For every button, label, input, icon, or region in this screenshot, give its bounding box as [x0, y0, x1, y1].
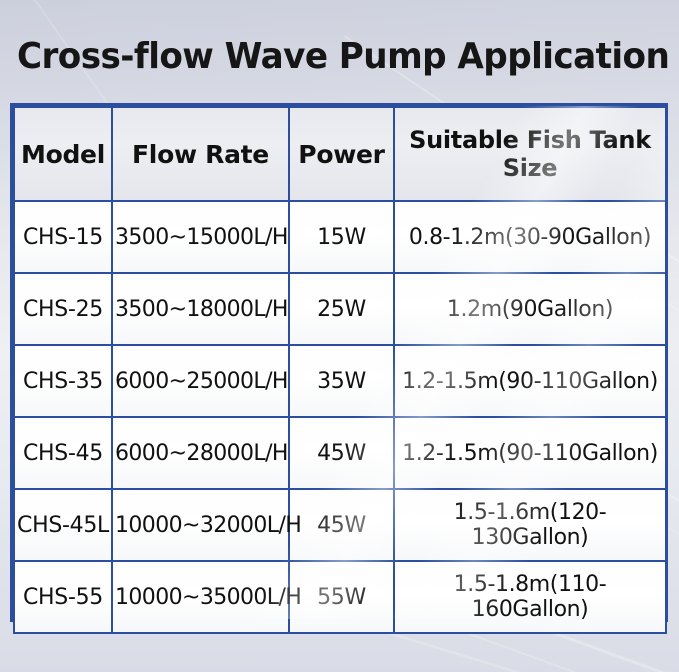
cell-model: CHS-55 [14, 561, 112, 633]
cell-tank-size: 1.2-1.5m(90-110Gallon) [394, 417, 666, 489]
cell-power: 55W [289, 561, 394, 633]
cell-power: 15W [289, 201, 394, 273]
cell-tank-size: 1.2m(90Gallon) [394, 273, 666, 345]
page-title: Cross-flow Wave Pump Application [17, 36, 662, 77]
cell-power: 45W [289, 417, 394, 489]
product-spec-page: Cross-flow Wave Pump Application Model F… [0, 0, 679, 672]
table-row: CHS-15 3500~15000L/H 15W 0.8-1.2m(30-90G… [14, 201, 666, 273]
table-row: CHS-35 6000~25000L/H 35W 1.2-1.5m(90-110… [14, 345, 666, 417]
cell-flow-rate: 3500~15000L/H [112, 201, 289, 273]
table-body: CHS-15 3500~15000L/H 15W 0.8-1.2m(30-90G… [14, 201, 666, 633]
column-header-power: Power [289, 107, 394, 201]
column-header-model: Model [14, 107, 112, 201]
cell-tank-size: 0.8-1.2m(30-90Gallon) [394, 201, 666, 273]
cell-flow-rate: 10000~35000L/H [112, 561, 289, 633]
table-row: CHS-25 3500~18000L/H 25W 1.2m(90Gallon) [14, 273, 666, 345]
cell-model: CHS-45L [14, 489, 112, 561]
table-header-row: Model Flow Rate Power Suitable Fish Tank… [14, 107, 666, 201]
table-header: Model Flow Rate Power Suitable Fish Tank… [14, 107, 666, 201]
spec-table: Model Flow Rate Power Suitable Fish Tank… [13, 106, 667, 634]
cell-model: CHS-45 [14, 417, 112, 489]
cell-flow-rate: 10000~32000L/H [112, 489, 289, 561]
cell-model: CHS-25 [14, 273, 112, 345]
cell-tank-size: 1.5-1.8m(110-160Gallon) [394, 561, 666, 633]
table-row: CHS-45L 10000~32000L/H 45W 1.5-1.6m(120-… [14, 489, 666, 561]
table-row: CHS-55 10000~35000L/H 55W 1.5-1.8m(110-1… [14, 561, 666, 633]
cell-power: 25W [289, 273, 394, 345]
column-header-flow-rate: Flow Rate [112, 107, 289, 201]
cell-power: 45W [289, 489, 394, 561]
cell-model: CHS-35 [14, 345, 112, 417]
cell-tank-size: 1.2-1.5m(90-110Gallon) [394, 345, 666, 417]
cell-power: 35W [289, 345, 394, 417]
spec-table-container: Model Flow Rate Power Suitable Fish Tank… [10, 103, 668, 622]
cell-model: CHS-15 [14, 201, 112, 273]
cell-tank-size: 1.5-1.6m(120-130Gallon) [394, 489, 666, 561]
column-header-tank-size: Suitable Fish Tank Size [394, 107, 666, 201]
cell-flow-rate: 3500~18000L/H [112, 273, 289, 345]
cell-flow-rate: 6000~25000L/H [112, 345, 289, 417]
table-row: CHS-45 6000~28000L/H 45W 1.2-1.5m(90-110… [14, 417, 666, 489]
cell-flow-rate: 6000~28000L/H [112, 417, 289, 489]
